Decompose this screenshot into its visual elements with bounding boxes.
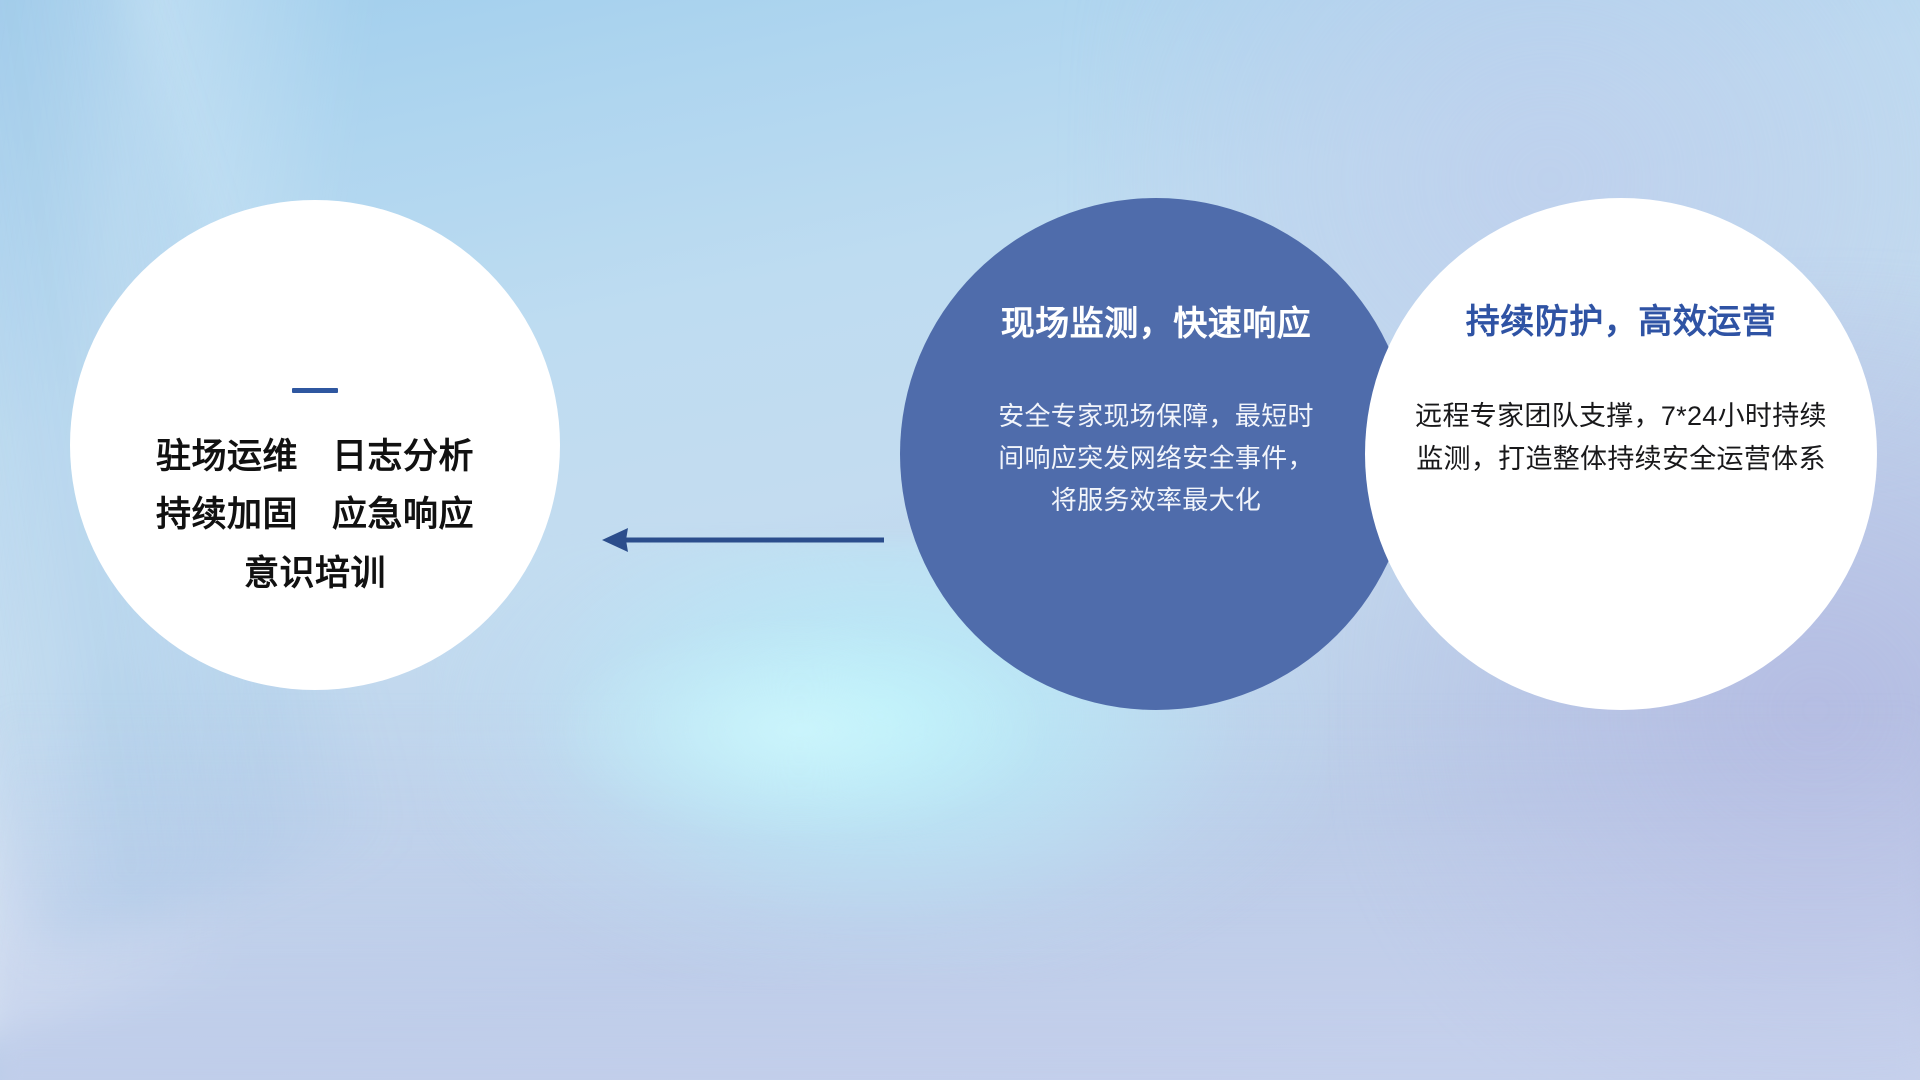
background-cyan-glow-core [560, 620, 1040, 840]
circle-service-tags: 驻场运维 日志分析 持续加固 应急响应 意识培训 [70, 200, 560, 690]
service-tag: 驻场运维 [156, 437, 298, 477]
continuous-protection-body: 远程专家团队支撑，7*24小时持续监测，打造整体持续安全运营体系 [1406, 395, 1836, 481]
service-tag: 应急响应 [332, 495, 474, 535]
service-tag-row: 意识培训 [244, 554, 386, 594]
circle-onsite-monitoring: 现场监测，快速响应 安全专家现场保障，最短时间响应突发网络安全事件，将服务效率最… [900, 198, 1412, 710]
service-tag: 日志分析 [332, 437, 474, 477]
service-tag-row: 持续加固 应急响应 [156, 495, 474, 535]
service-tag: 意识培训 [244, 554, 386, 594]
service-tag-list: 驻场运维 日志分析 持续加固 应急响应 意识培训 [70, 437, 560, 594]
service-tag: 持续加固 [156, 495, 298, 535]
onsite-monitoring-body: 安全专家现场保障，最短时间响应突发网络安全事件，将服务效率最大化 [996, 395, 1316, 521]
flow-arrow-left-icon [596, 516, 886, 564]
onsite-monitoring-heading: 现场监测，快速响应 [1001, 296, 1312, 345]
continuous-protection-heading: 持续防护，高效运营 [1466, 294, 1777, 343]
circle-continuous-protection: 持续防护，高效运营 远程专家团队支撑，7*24小时持续监测，打造整体持续安全运营… [1365, 198, 1877, 710]
service-tag-row: 驻场运维 日志分析 [156, 437, 474, 477]
divider-dash-icon [292, 388, 338, 393]
